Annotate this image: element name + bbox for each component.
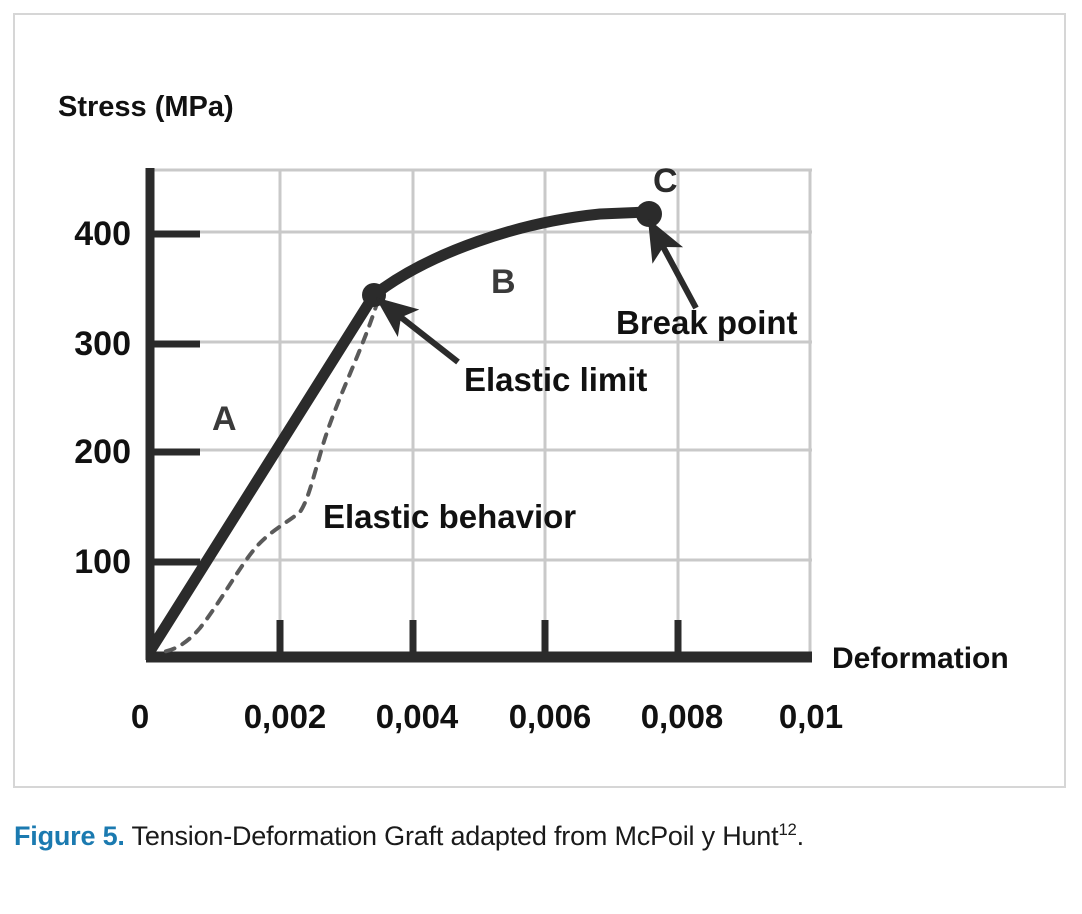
region-c-label: C (653, 162, 678, 200)
y-tick-label-100: 100 (74, 543, 131, 581)
break-point-marker (636, 201, 662, 227)
figure-container: Stress (MPa) (0, 0, 1082, 914)
x-axis-title: Deformation (832, 642, 1009, 675)
figure-caption-end: . (797, 821, 804, 851)
x-tick-label-0006: 0,006 (509, 698, 592, 735)
figure-caption-text: Tension-Deformation Graft adapted from M… (125, 821, 779, 851)
figure-caption-label: Figure 5. (14, 821, 125, 851)
x-tick-label-0002: 0,002 (244, 698, 327, 735)
stress-deformation-chart: Stress (MPa) (0, 0, 1082, 800)
elastic-limit-marker (362, 283, 386, 307)
break-point-label: Break point (616, 304, 798, 341)
x-tick-label-001: 0,01 (779, 698, 843, 735)
elastic-behavior-label: Elastic behavior (323, 498, 576, 535)
figure-caption-superscript: 12 (778, 820, 796, 839)
y-axis-ticks (150, 234, 200, 562)
y-tick-label-200: 200 (74, 433, 131, 471)
y-tick-label-300: 300 (74, 325, 131, 363)
elastic-limit-arrow (384, 304, 458, 362)
y-axis-tick-labels: 400 300 200 100 (74, 215, 131, 581)
break-point-arrow (653, 228, 696, 308)
x-tick-label-0008: 0,008 (641, 698, 724, 735)
region-a-label: A (212, 400, 237, 438)
x-axis-tick-labels: 0 0,002 0,004 0,006 0,008 0,01 (131, 698, 843, 735)
figure-caption: Figure 5. Tension-Deformation Graft adap… (14, 820, 1064, 852)
region-b-label: B (491, 263, 516, 301)
elastic-limit-label: Elastic limit (464, 361, 647, 398)
y-axis-title: Stress (MPa) (58, 91, 234, 123)
elastic-behavior-dashed-curve (162, 300, 378, 652)
x-axis-ticks (280, 620, 678, 657)
y-tick-label-400: 400 (74, 215, 131, 253)
x-tick-label-0004: 0,004 (376, 698, 459, 735)
x-tick-label-0: 0 (131, 698, 149, 735)
